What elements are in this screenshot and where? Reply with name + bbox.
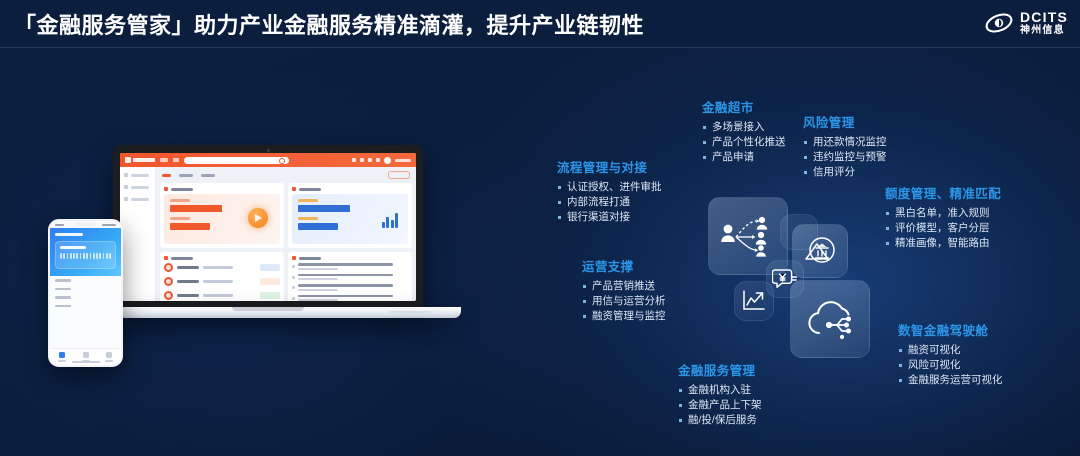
growth-chart-icon <box>741 289 767 313</box>
page-title: 「金融服务管家」助力产业金融服务精准滴灌，提升产业链韧性 <box>14 8 644 40</box>
action-button[interactable] <box>388 171 410 179</box>
highlight-orb-icon <box>248 208 268 228</box>
app-topbar <box>120 153 416 167</box>
logo-text-en: DCITS <box>1020 10 1068 24</box>
card-cloud-network <box>790 280 870 358</box>
list-item: 内部流程打通 <box>557 195 662 210</box>
list-item: 产品个性化推送 <box>702 135 786 150</box>
list-item: 多场景接入 <box>702 120 786 135</box>
list-item: 用还款情况监控 <box>803 135 887 150</box>
avatar[interactable] <box>384 157 391 164</box>
app-body <box>120 167 416 301</box>
status-dot <box>164 277 173 286</box>
status-dot <box>164 263 173 272</box>
list-item: 精准画像，智能路由 <box>885 236 1001 251</box>
tab-bar <box>160 171 412 183</box>
list-item: 金融机构入驻 <box>678 383 762 398</box>
list-item: 黑白名单，准入规则 <box>885 206 1001 221</box>
list-item: 风险可视化 <box>898 358 1003 373</box>
block-title: 金融超市 <box>702 97 786 116</box>
block-title: 金融服务管理 <box>678 360 762 379</box>
stat-card-left <box>160 183 284 248</box>
block-list: 黑白名单，准入规则 评价模型，客户分层 精准画像，智能路由 <box>885 206 1001 251</box>
block-list: 产品营销推送 用信与运营分析 融资管理与监控 <box>582 279 666 324</box>
list-item[interactable] <box>164 277 280 286</box>
block-process: 流程管理与对接 认证授权、进件审批 内部流程打通 银行渠道对接 <box>557 157 662 225</box>
process-list-card <box>160 252 284 301</box>
list-item: 银行渠道对接 <box>557 210 662 225</box>
topbar-icons <box>352 157 411 164</box>
stat-card-right <box>288 183 412 248</box>
block-digital-cockpit: 数智金融驾驶舱 融资可视化 风险可视化 金融服务运营可视化 <box>898 320 1003 388</box>
block-title: 风险管理 <box>803 112 887 131</box>
block-list: 用还款情况监控 违约监控与预警 信用评分 <box>803 135 887 180</box>
bank-coin-icon <box>803 235 837 267</box>
cloud-network-icon <box>801 295 859 343</box>
list-item: 信用评分 <box>803 165 887 180</box>
phone-group-1 <box>50 276 121 285</box>
tab-third[interactable] <box>201 174 215 177</box>
laptop-mockup <box>113 145 423 317</box>
clock <box>55 224 64 226</box>
signal-battery-icon <box>102 224 116 226</box>
status-badge <box>260 292 280 299</box>
list-item[interactable] <box>164 263 280 272</box>
brand-logo: DCITS 神州信息 <box>984 7 1068 39</box>
phone-hero-card <box>55 241 116 269</box>
status-badge <box>260 264 280 271</box>
bell-icon[interactable] <box>360 158 364 162</box>
device-mockups <box>8 140 458 370</box>
phone-app-title <box>55 233 83 236</box>
phone-notch <box>75 222 97 226</box>
laptop-notch <box>232 307 304 311</box>
list-item: 产品申请 <box>702 150 786 165</box>
phone-group-2 <box>50 285 121 294</box>
status-dot <box>164 291 173 300</box>
card-growth-chart <box>734 281 774 321</box>
list-item[interactable] <box>292 263 408 270</box>
block-quota-matching: 额度管理、精准匹配 黑白名单，准入规则 评价模型，客户分层 精准画像，智能路由 <box>885 183 1001 251</box>
phone-group-4 <box>50 302 121 311</box>
main-content <box>156 167 416 301</box>
grid-icon[interactable] <box>368 158 372 162</box>
logo-text-cn: 神州信息 <box>1020 26 1068 36</box>
list-item: 评价模型，客户分层 <box>885 221 1001 236</box>
phone-mockup <box>48 219 123 367</box>
list-item: 金融服务运营可视化 <box>898 373 1003 388</box>
stat-panel-orange <box>164 194 280 244</box>
help-icon[interactable] <box>352 158 356 162</box>
list-item: 融资管理与监控 <box>582 309 666 324</box>
laptop-base-detail <box>389 311 431 313</box>
block-financial-market: 金融超市 多场景接入 产品个性化推送 产品申请 <box>702 97 786 165</box>
list-item[interactable] <box>292 295 408 302</box>
list-item: 融/投/保后服务 <box>678 413 762 428</box>
tab-overview[interactable] <box>162 174 171 177</box>
webcam-icon <box>267 149 270 152</box>
settings-icon[interactable] <box>376 158 380 162</box>
block-list: 多场景接入 产品个性化推送 产品申请 <box>702 120 786 165</box>
icon-cluster <box>694 192 884 362</box>
block-operation-support: 运营支撑 产品营销推送 用信与运营分析 融资管理与监控 <box>582 256 666 324</box>
sidebar-item[interactable] <box>124 197 151 201</box>
phone-hero-banner <box>50 228 121 276</box>
laptop-screen <box>120 153 416 301</box>
slide-canvas: 「金融服务管家」助力产业金融服务精准滴灌，提升产业链韧性 DCITS 神州信息 … <box>0 0 1080 456</box>
list-item: 用信与运营分析 <box>582 294 666 309</box>
search-input[interactable] <box>184 157 289 164</box>
list-item: 金融产品上下架 <box>678 398 762 413</box>
news-list-card <box>288 252 412 301</box>
list-item[interactable] <box>292 274 408 281</box>
user-name <box>395 159 411 162</box>
block-financial-service-management: 金融服务管理 金融机构入驻 金融产品上下架 融/投/保后服务 <box>678 360 762 428</box>
header-bar: 「金融服务管家」助力产业金融服务精准滴灌，提升产业链韧性 DCITS 神州信息 <box>0 0 1080 48</box>
swoosh-icon <box>984 10 1014 36</box>
stat-panel-blue <box>292 194 408 244</box>
list-item: 认证授权、进件审批 <box>557 180 662 195</box>
phone-group-3 <box>50 293 121 302</box>
sidebar-nav <box>120 167 156 301</box>
block-title: 流程管理与对接 <box>557 157 662 176</box>
list-item[interactable] <box>292 284 408 291</box>
block-list: 融资可视化 风险可视化 金融服务运营可视化 <box>898 343 1003 388</box>
bar-chart-icon <box>382 212 399 228</box>
block-list: 认证授权、进件审批 内部流程打通 银行渠道对接 <box>557 180 662 225</box>
app-logo-icon <box>125 157 155 163</box>
block-title: 额度管理、精准匹配 <box>885 183 1001 202</box>
sidebar-item[interactable] <box>124 185 151 189</box>
block-title: 数智金融驾驶舱 <box>898 320 1003 339</box>
laptop-lid <box>113 145 423 310</box>
laptop-base <box>75 307 461 318</box>
phone-tab-home[interactable] <box>50 349 74 365</box>
tab-second[interactable] <box>179 174 193 177</box>
block-list: 金融机构入驻 金融产品上下架 融/投/保后服务 <box>678 383 762 428</box>
list-item[interactable] <box>164 291 280 300</box>
phone-home-indicator <box>72 361 100 363</box>
phone-tab-mine[interactable] <box>97 349 121 365</box>
list-item: 违约监控与预警 <box>803 150 887 165</box>
status-badge <box>260 278 280 285</box>
list-item: 融资可视化 <box>898 343 1003 358</box>
list-item: 产品营销推送 <box>582 279 666 294</box>
block-risk-management: 风险管理 用还款情况监控 违约监控与预警 信用评分 <box>803 112 887 180</box>
block-title: 运营支撑 <box>582 256 666 275</box>
sidebar-item[interactable] <box>124 173 151 177</box>
people-network-icon <box>719 212 777 260</box>
